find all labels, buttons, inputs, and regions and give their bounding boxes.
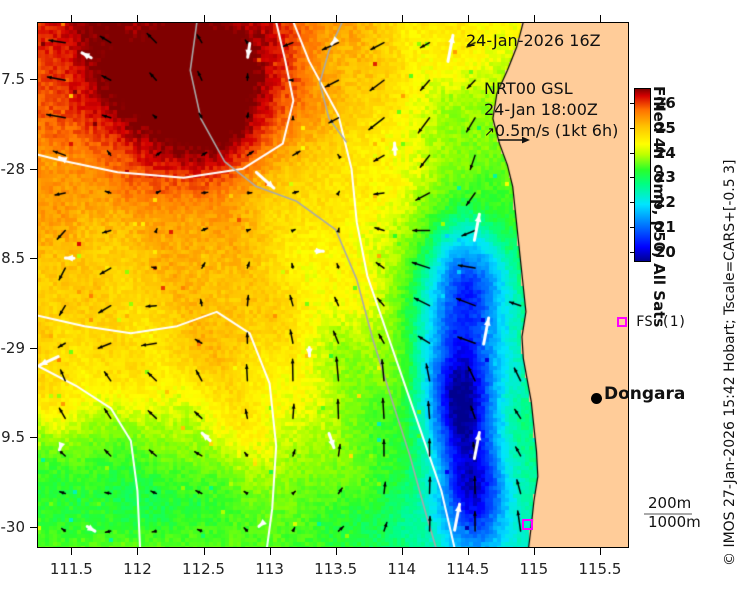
x-tick-top (402, 15, 403, 22)
depth-label-1000m: 1000m (648, 513, 701, 532)
colorbar-tick (630, 103, 634, 104)
x-tick-label: 112.5 (182, 560, 225, 578)
colorbar-gradient (634, 88, 651, 262)
colorbar-tick (630, 252, 634, 253)
x-tick (336, 548, 337, 555)
x-tick-label: 114.5 (446, 560, 489, 578)
x-tick-label: 114 (387, 560, 416, 578)
x-tick-label: 112 (123, 560, 152, 578)
station-marker-icon[interactable] (617, 317, 627, 327)
depth-label-200m: 200m (648, 494, 701, 513)
colorbar-title: Filled 4h comp, p50, All Sats (650, 86, 668, 266)
depth-line-1000m-swatch (644, 513, 692, 515)
product-name-label: NRT00 GSL (484, 78, 618, 99)
y-tick-label: -28 (1, 160, 26, 178)
x-tick-label: 113.5 (314, 560, 357, 578)
product-time-label: 24-Jan 18:00Z (484, 99, 618, 120)
y-tick-label: -29 (1, 339, 26, 357)
town-label: Dongara (604, 384, 685, 404)
y-tick (30, 258, 37, 259)
x-tick (204, 548, 205, 555)
x-tick (600, 548, 601, 555)
depth-line-200m-swatch (644, 533, 692, 535)
x-tick-top (600, 15, 601, 22)
station-legend-label: FS (1) (636, 314, 687, 330)
x-tick (402, 548, 403, 555)
y-tick (30, 437, 37, 438)
timestamp-label: 24-Jan-2026 16Z (466, 31, 601, 50)
reference-vector-arrow-icon (497, 134, 531, 146)
x-tick-top (336, 15, 337, 22)
x-tick-label: 111.5 (50, 560, 93, 578)
y-tick (30, 79, 37, 80)
x-tick-top (204, 15, 205, 22)
x-tick (137, 548, 138, 555)
x-tick (71, 548, 72, 555)
colorbar-tick (630, 227, 634, 228)
station-marker-icon-offshore[interactable] (522, 519, 533, 530)
y-tick (30, 527, 37, 528)
x-tick-top (468, 15, 469, 22)
x-tick-top (137, 15, 138, 22)
y-tick-label: -28.5 (0, 249, 25, 267)
colorbar-tick (630, 128, 634, 129)
colorbar-tick (630, 202, 634, 203)
colorbar-tick (630, 177, 634, 178)
x-tick (534, 548, 535, 555)
x-tick-label: 115 (520, 560, 549, 578)
y-tick (30, 169, 37, 170)
x-tick-top (71, 15, 72, 22)
x-tick (468, 548, 469, 555)
y-tick-label: -30 (1, 518, 26, 536)
x-tick-label: 113 (255, 560, 284, 578)
colorbar-tick (630, 153, 634, 154)
y-tick (30, 348, 37, 349)
y-tick-label: -27.5 (0, 70, 25, 88)
attribution-text: © IMOS 27-Jan-2026 15:42 Hobart; Tscale=… (722, 160, 738, 566)
x-tick-top (270, 15, 271, 22)
x-tick-label: 115.5 (578, 560, 621, 578)
town-marker-dot-icon (591, 393, 602, 404)
x-tick (270, 548, 271, 555)
x-tick-top (534, 15, 535, 22)
y-tick-label: -29.5 (0, 428, 25, 446)
